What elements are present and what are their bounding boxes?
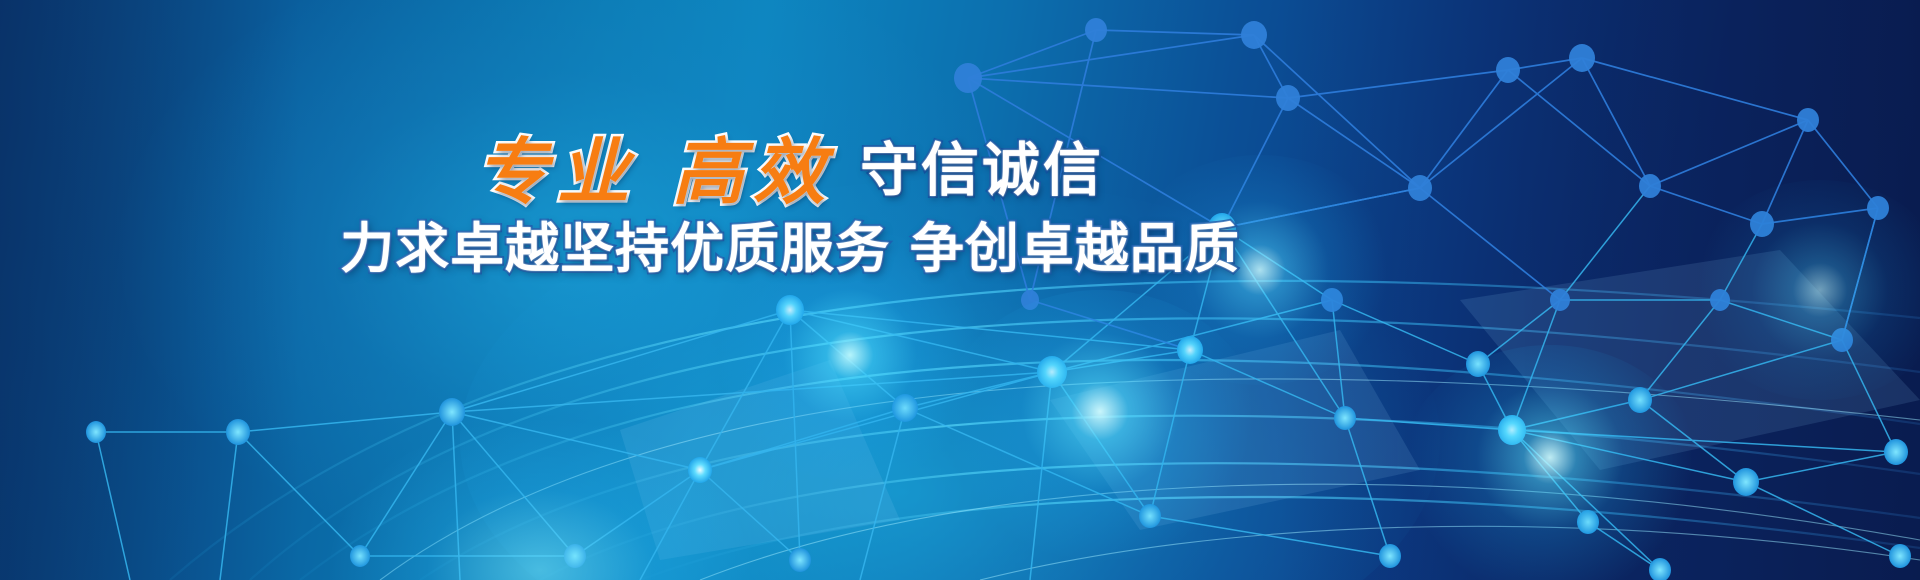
hero-banner: 专业 高效守信诚信 力求卓越坚持优质服务 争创卓越品质	[0, 0, 1920, 580]
network-graphic	[0, 0, 1920, 580]
